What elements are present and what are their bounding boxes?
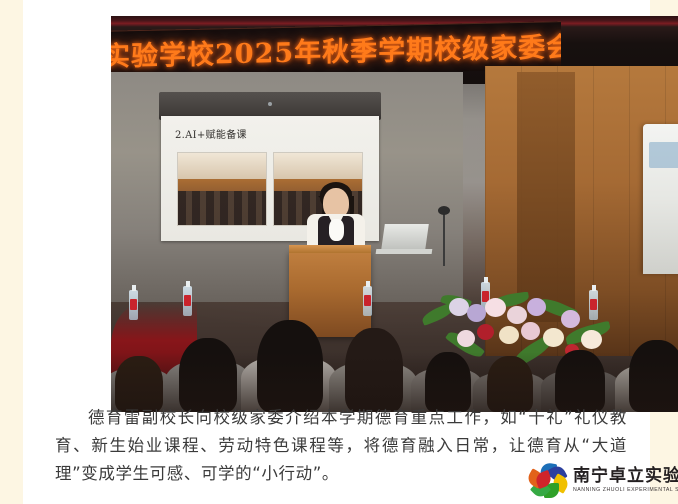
water-bottle (129, 290, 138, 320)
school-logo: 南宁卓立实验学校 NANNING ZHUOLI EXPERIMENTAL SCH… (528, 460, 678, 502)
logo-name-en: NANNING ZHUOLI EXPERIMENTAL SCHOOL (573, 488, 678, 493)
logo-text: 南宁卓立实验学校 NANNING ZHUOLI EXPERIMENTAL SCH… (573, 468, 678, 493)
conference-table (111, 352, 678, 412)
slide-title: 2.AI+赋能备课 (175, 126, 247, 141)
microphone-icon (438, 206, 450, 215)
article-content-column: 实验学校2025年秋季学期校级家委会 2.AI+赋能备课 (23, 0, 650, 504)
water-bottle (363, 286, 372, 316)
flower-logo-icon (528, 463, 568, 499)
water-bottle (183, 286, 192, 316)
photo-scene: 实验学校2025年秋季学期校级家委会 2.AI+赋能备课 (111, 16, 678, 412)
logo-name-cn: 南宁卓立实验学校 (573, 468, 678, 485)
speaker-scarf (329, 219, 344, 241)
article-page: 实验学校2025年秋季学期校级家委会 2.AI+赋能备课 (0, 0, 678, 504)
slide-thumbnail (177, 152, 267, 226)
meeting-photo[interactable]: 实验学校2025年秋季学期校级家委会 2.AI+赋能备课 (111, 16, 678, 412)
audience-area (111, 252, 678, 412)
laptop (381, 224, 429, 250)
